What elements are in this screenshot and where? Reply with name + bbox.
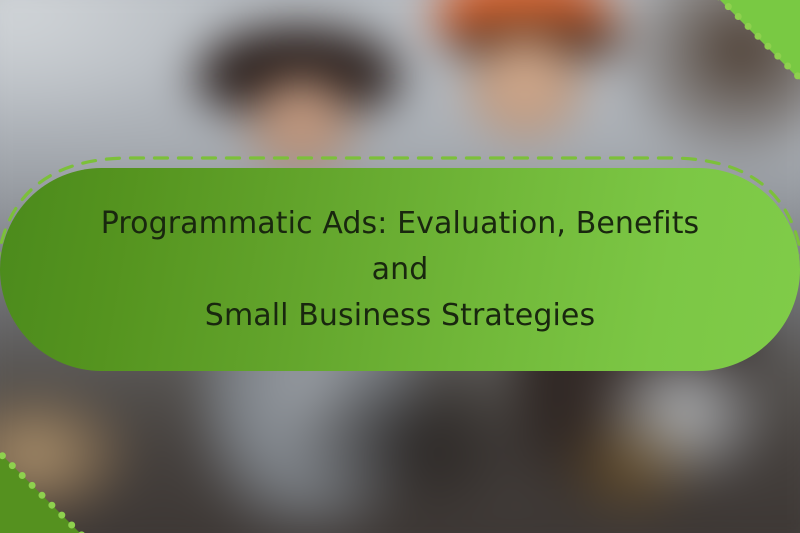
- background-ochre-patch: [560, 410, 700, 520]
- corner-dot: [733, 12, 743, 22]
- corner-dot: [17, 471, 27, 481]
- corner-dot: [67, 520, 77, 530]
- corner-dot: [37, 490, 47, 500]
- corner-dot: [773, 51, 783, 61]
- corner-dot: [57, 510, 67, 520]
- corner-dot: [7, 461, 17, 471]
- page-title-line-1: Programmatic Ads: Evaluation, Benefits a…: [70, 201, 730, 293]
- background-right-face: [466, 36, 584, 140]
- background-wall-highlight: [0, 0, 220, 130]
- background-center-shadow: [290, 360, 530, 520]
- corner-dot: [743, 21, 753, 31]
- corner-dot: [723, 2, 733, 12]
- corner-dot: [783, 61, 793, 71]
- blog-title-banner: Programmatic Ads: Evaluation, Benefits a…: [0, 0, 800, 533]
- page-title: Programmatic Ads: Evaluation, Benefits a…: [70, 201, 730, 339]
- corner-dot: [753, 31, 763, 41]
- corner-dot: [713, 0, 723, 2]
- corner-dot: [47, 500, 57, 510]
- page-title-line-2: Small Business Strategies: [70, 293, 730, 339]
- corner-dot: [793, 71, 800, 81]
- corner-dot: [763, 41, 773, 51]
- corner-dot: [0, 451, 7, 461]
- background-left-face: [246, 78, 356, 174]
- corner-dot: [27, 480, 37, 490]
- title-card: Programmatic Ads: Evaluation, Benefits a…: [0, 168, 800, 371]
